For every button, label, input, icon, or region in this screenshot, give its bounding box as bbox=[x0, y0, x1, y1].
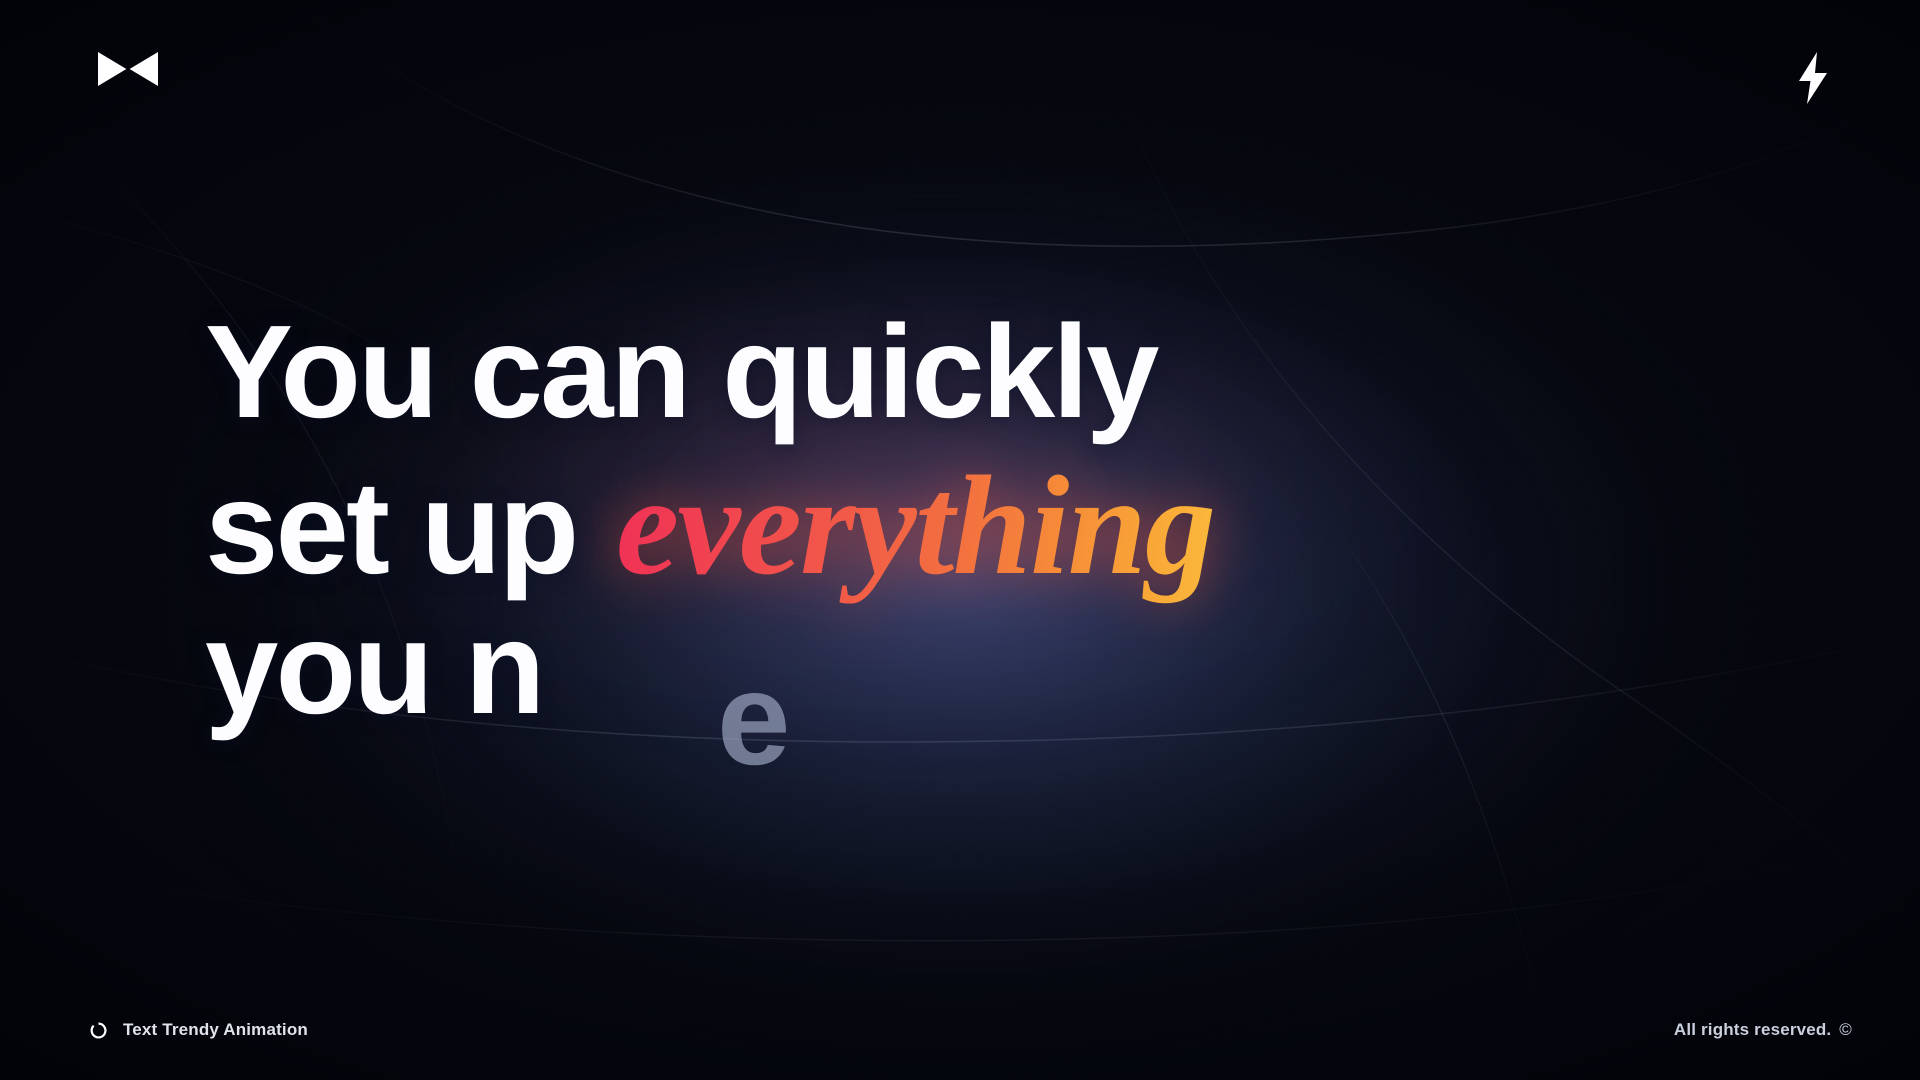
headline-line-1: You can quickly bbox=[205, 305, 1705, 453]
headline-accent-wrap: everything everything bbox=[610, 453, 1220, 598]
footer-left: Text Trendy Animation bbox=[90, 1020, 308, 1040]
headline-line-2-prefix: set up bbox=[205, 454, 576, 601]
headline-line-2: set up everything everything bbox=[205, 453, 1705, 601]
footer-right: All rights reserved. © bbox=[1674, 1020, 1852, 1040]
headline-line-3-text: you n bbox=[205, 594, 542, 741]
headline-accent-word: everything bbox=[610, 446, 1220, 604]
headline: You can quickly set up everything everyt… bbox=[205, 305, 1705, 749]
headline-line-1-text: You can quickly bbox=[205, 298, 1157, 445]
footer-left-label: Text Trendy Animation bbox=[123, 1020, 308, 1040]
loading-ring-icon bbox=[90, 1022, 107, 1039]
footer-rights-label: All rights reserved. bbox=[1674, 1020, 1831, 1040]
headline-line-3: you n e bbox=[205, 601, 1705, 749]
lightning-bolt-icon[interactable] bbox=[1795, 52, 1831, 104]
copyright-icon: © bbox=[1839, 1020, 1852, 1040]
bowtie-logo-icon[interactable] bbox=[98, 50, 158, 88]
headline-animating-letter: e bbox=[717, 653, 788, 785]
presentation-slide: You can quickly set up everything everyt… bbox=[0, 0, 1920, 1080]
